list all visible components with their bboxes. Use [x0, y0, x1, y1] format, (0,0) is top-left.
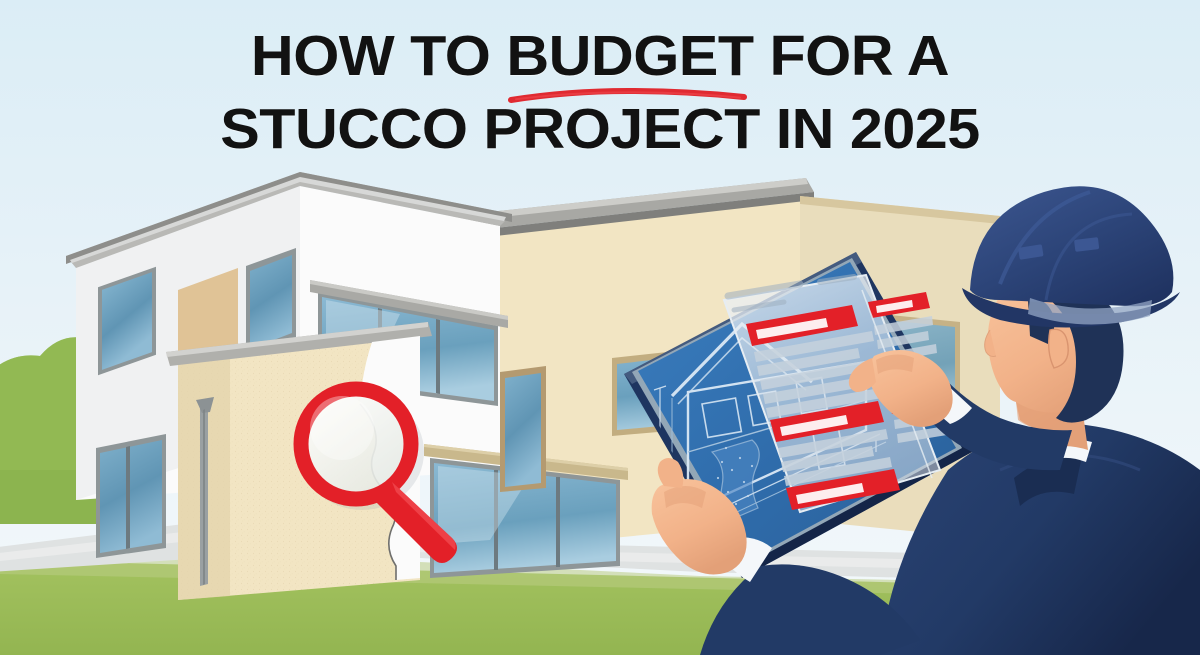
scene-illustration	[0, 0, 1200, 655]
window-lower-left	[96, 434, 166, 558]
illustration-canvas: HOW TO BUDGET FOR A STUCCO PROJECT IN 20…	[0, 0, 1200, 655]
window-cream-wing-tall	[500, 366, 546, 492]
